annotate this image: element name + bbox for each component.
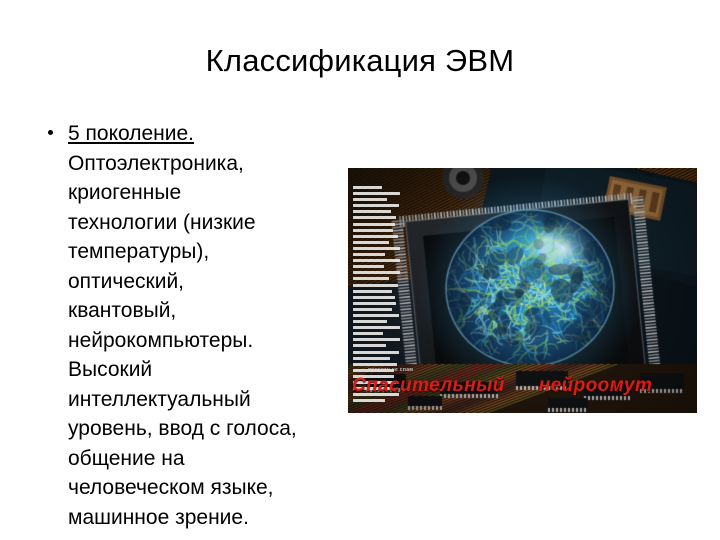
paragraph-line-text: технологии (низкие — [68, 211, 256, 234]
slide-image: магазин не спам Спасительныйнейроомут — [348, 168, 697, 413]
paragraph-line-text: машинное зрение. — [68, 506, 249, 529]
paragraph-line: общение на — [44, 444, 344, 474]
lead-label: 5 поколение. — [68, 122, 194, 145]
paragraph-line-text: уровень, ввод с голоса, — [68, 417, 297, 440]
paragraph-line-text: оптический, — [68, 270, 184, 293]
page-title: Классификация ЭВМ — [36, 42, 684, 80]
paragraph-line: температуры), — [44, 237, 344, 267]
paragraph-line: человеческом языке, — [44, 473, 344, 503]
paragraph-line: машинное зрение. — [44, 503, 344, 533]
paragraph-line: квантовый, — [44, 296, 344, 326]
bullet-dot-icon — [48, 130, 53, 135]
paragraph-line-text: нейрокомпьютеры. — [68, 329, 253, 352]
paragraph-line: нейрокомпьютеры. — [44, 326, 344, 356]
paragraph-line-text: общение на — [68, 447, 185, 470]
paragraph-line-text: интеллектуальный — [68, 388, 251, 411]
bullet-list-item: 5 поколение. — [44, 119, 344, 149]
paragraph-line-text: квантовый, — [68, 299, 176, 322]
lead-label-line: 5 поколение. — [68, 119, 344, 149]
paragraph-line: Высокий — [44, 355, 344, 385]
paragraph-line: криогенные — [44, 178, 344, 208]
paragraph-line: Оптоэлектроника, — [44, 149, 344, 179]
paragraph-line: интеллектуальный — [44, 385, 344, 415]
paragraph-line-text: человеческом языке, — [68, 476, 274, 499]
paragraph-line-text: криогенные — [68, 181, 181, 204]
paragraph-line: оптический, — [44, 267, 344, 297]
paragraph-line: уровень, ввод с голоса, — [44, 414, 344, 444]
paragraph-line-text: Высокий — [68, 358, 152, 381]
neurochip-photo-canvas — [348, 168, 697, 413]
paragraph-line: технологии (низкие — [44, 208, 344, 238]
body-text-block: 5 поколение. Оптоэлектроника, криогенные… — [44, 119, 344, 532]
slide: Классификация ЭВМ 5 поколение. Оптоэлект… — [0, 0, 720, 540]
paragraph-line-text: температуры), — [68, 240, 209, 263]
paragraph-line-text: Оптоэлектроника, — [68, 152, 244, 175]
